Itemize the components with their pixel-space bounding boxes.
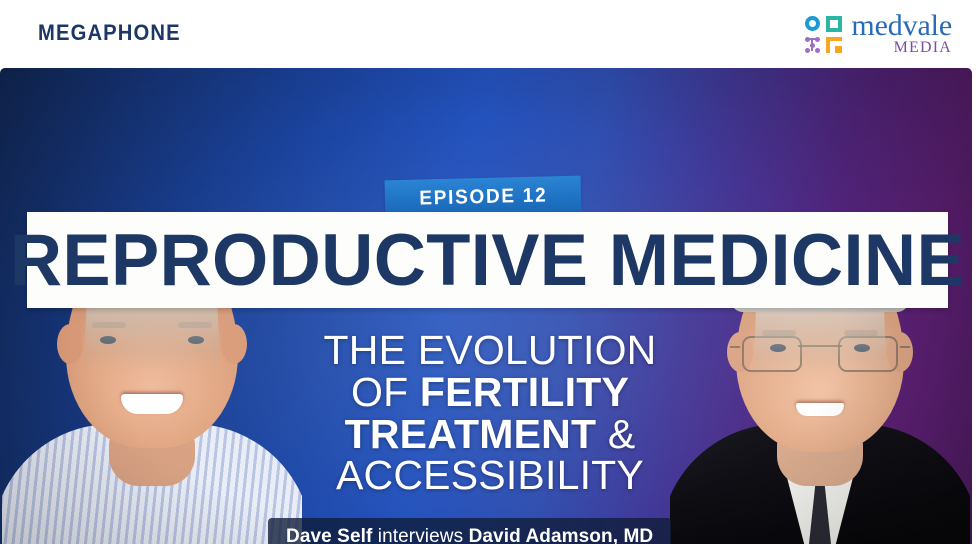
subtitle-line-3-suffix: & [596,411,635,457]
smile-icon [796,403,844,416]
credit-verb: interviews [372,526,468,544]
smile-icon [121,394,183,414]
medvale-qr-mark-icon [805,16,842,53]
subtitle-line-1-text: THE EVOLUTION [324,327,657,373]
medvale-logo[interactable]: medvale MEDIA [805,8,952,60]
medvale-wordmark-secondary: MEDIA [851,40,952,56]
subtitle-line-2-prefix: OF [351,369,420,415]
credit-bar: Dave Self interviews David Adamson, MD [268,518,671,544]
podcast-episode-card: MEGAPHONE medvale MEDIA [0,0,980,544]
brand-title: MEGAPHONE [38,20,181,46]
subtitle-line-4: ACCESSIBILITY [300,455,680,497]
ear-icon [221,324,247,364]
glasses-temple-icon [730,346,740,348]
logo-corner-dot-icon [835,46,842,53]
host-name: Dave Self [286,526,372,544]
medvale-wordmark-primary: medvale [851,12,952,40]
logo-dot-icon [810,43,815,48]
subtitle-line-2-emphasis: FERTILITY [420,369,629,415]
episode-title-band: REPRODUCTIVE MEDICINE [27,212,948,308]
header-bar: MEGAPHONE medvale MEDIA [0,0,980,68]
logo-dot-icon [815,37,820,42]
glasses-temple-icon [900,346,910,348]
guest-name: David Adamson, MD [469,526,654,544]
logo-square-icon [826,16,842,32]
logo-ring-icon [805,16,820,31]
subtitle-line-4-text: ACCESSIBILITY [336,452,644,498]
episode-number-label: EPISODE 12 [419,184,548,210]
subtitle-line-3-emphasis: TREATMENT [345,411,597,457]
subtitle-line-1: THE EVOLUTION [300,330,680,372]
medvale-wordmark: medvale MEDIA [851,12,952,57]
logo-dot-icon [815,48,820,53]
episode-artwork: EPISODE 12 REPRODUCTIVE MEDICINE THE EVO… [0,68,972,544]
episode-title: REPRODUCTIVE MEDICINE [10,224,965,297]
episode-subtitle: THE EVOLUTION OF FERTILITY TREATMENT & A… [300,330,680,497]
logo-dot-icon [805,48,810,53]
subtitle-line-3: TREATMENT & [300,414,680,456]
subtitle-line-2: OF FERTILITY [300,372,680,414]
credit-text: Dave Self interviews David Adamson, MD [286,526,653,544]
ear-icon [57,324,83,364]
